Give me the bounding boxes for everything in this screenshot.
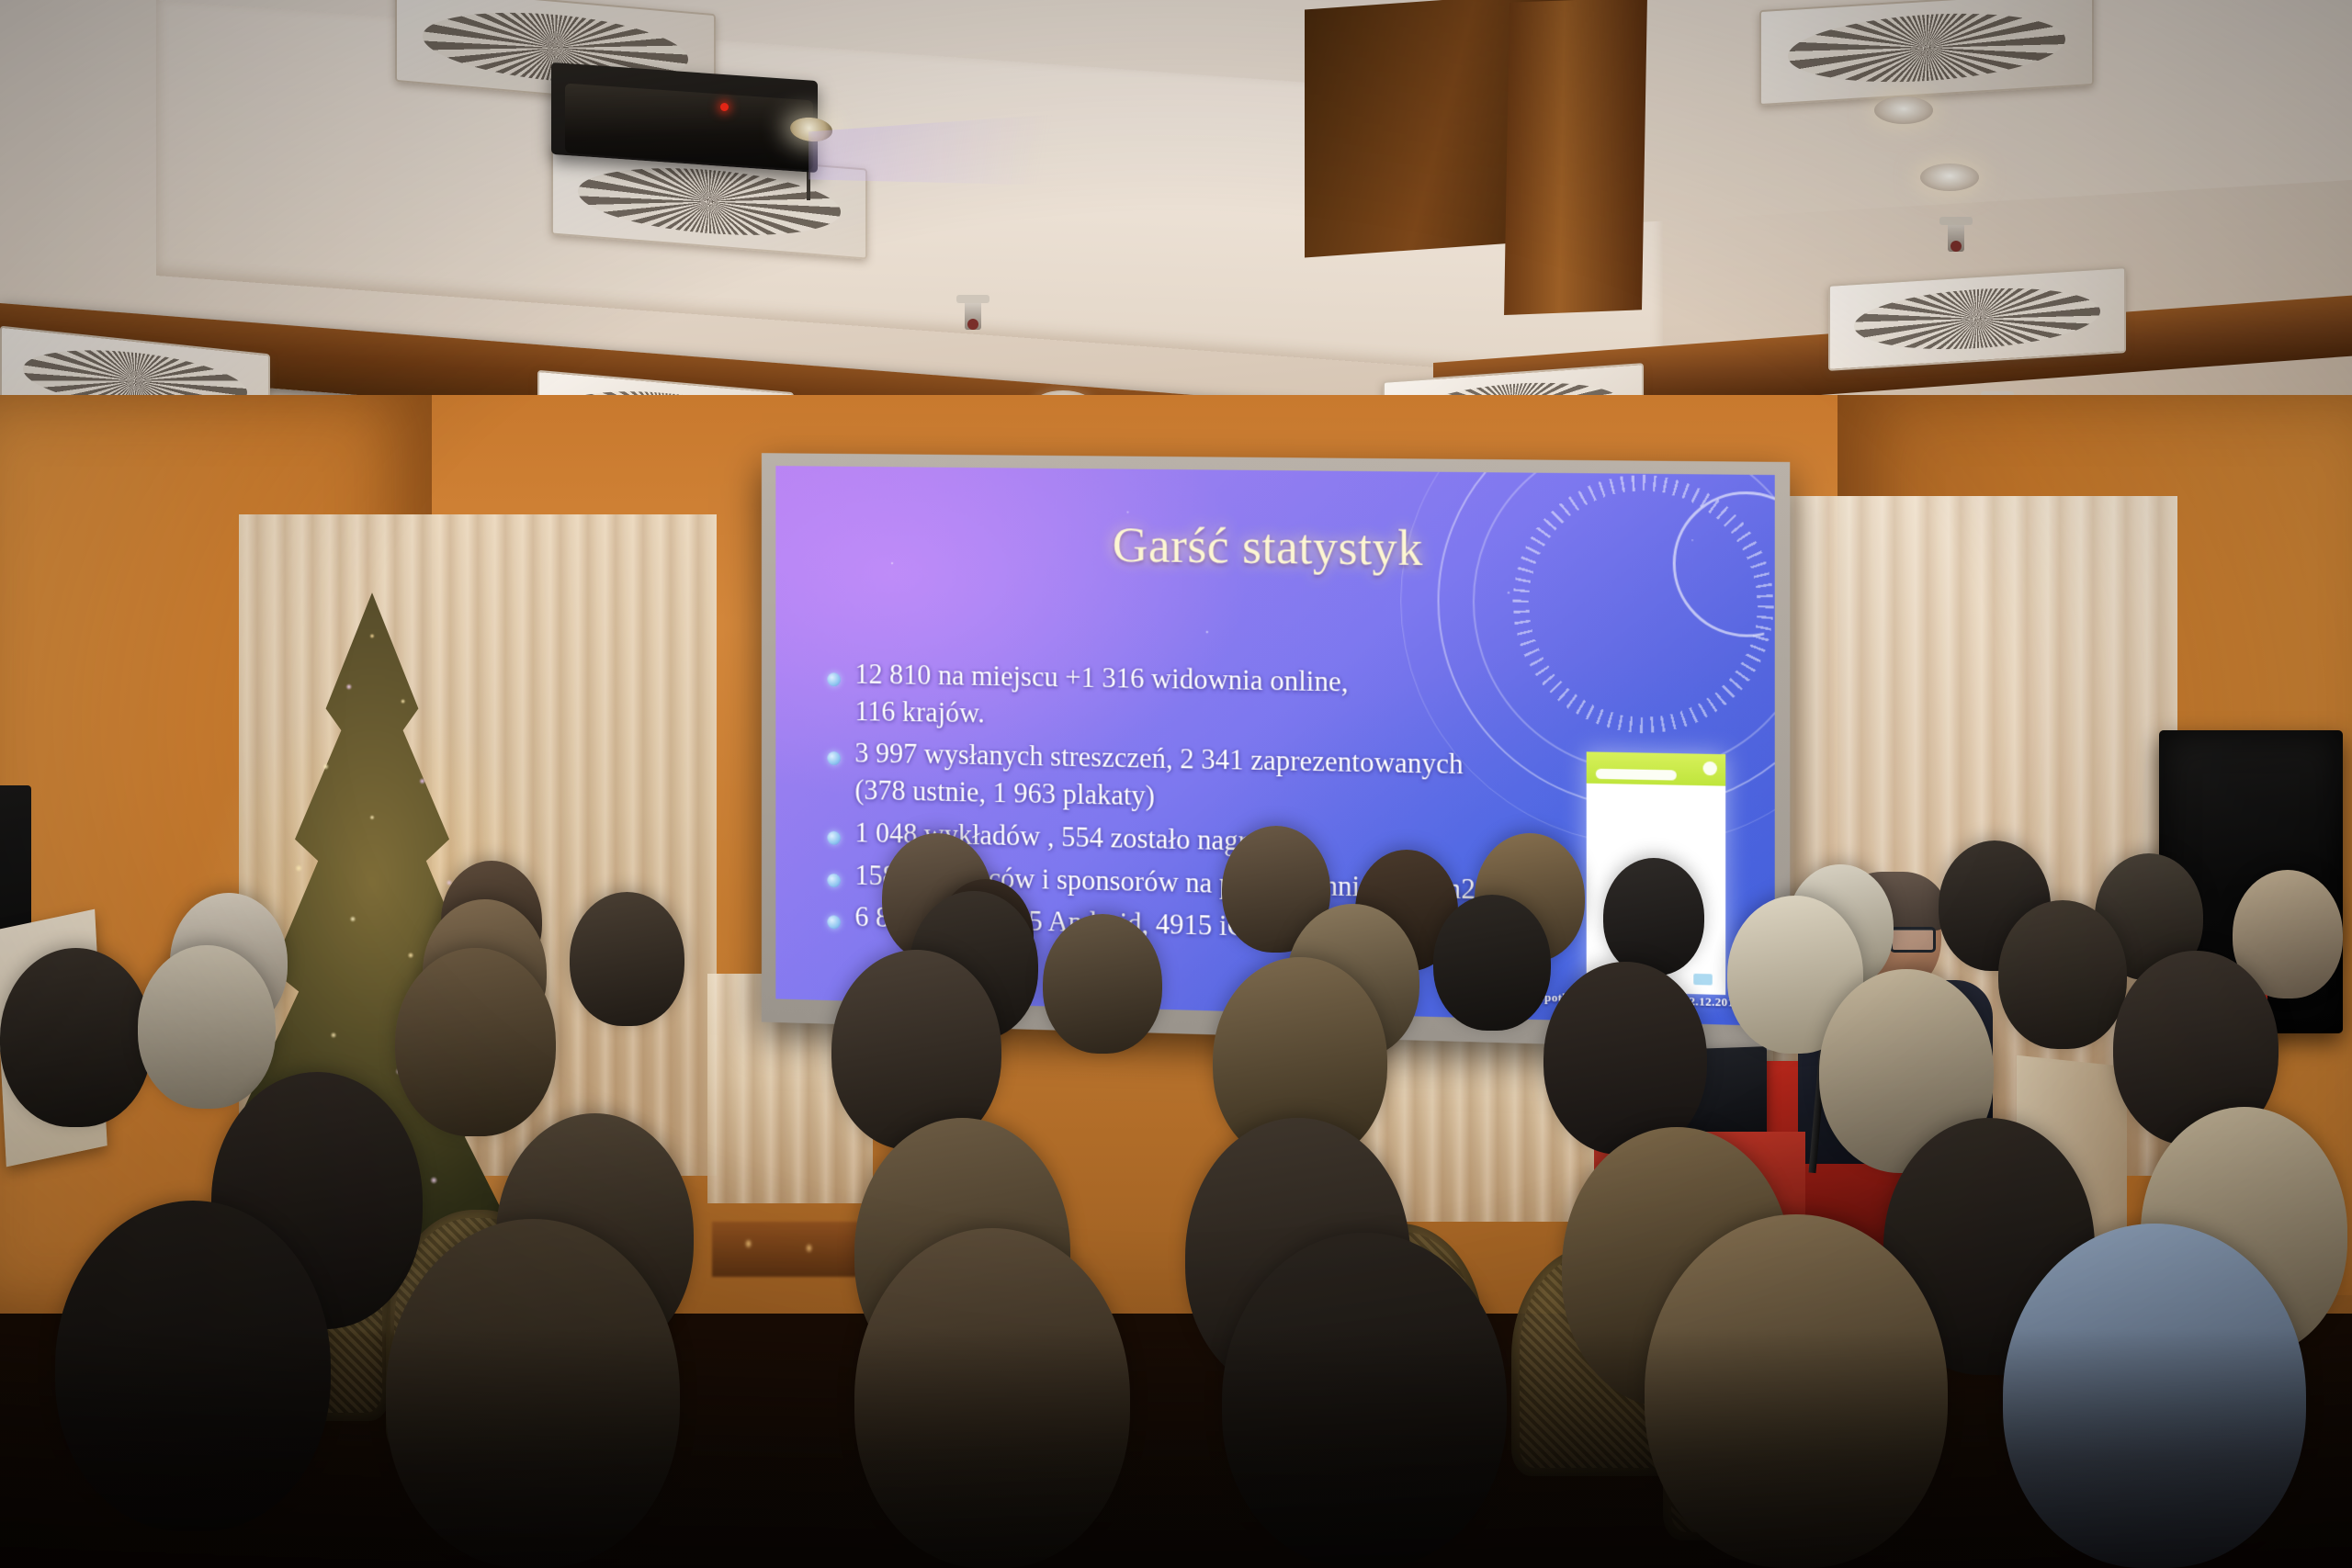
app-avatar-icon bbox=[1703, 761, 1717, 776]
slide-bullet-line-1: 6 860 App (1945 Android, 4915 iOS) bbox=[854, 901, 1272, 943]
app-footer-icon bbox=[1693, 974, 1713, 986]
presenter bbox=[1796, 877, 2007, 1153]
sprinkler-head-icon bbox=[1948, 220, 1964, 252]
slide-bullet-line-1: 1 048 wykładów , 554 zostało nagrane bbox=[854, 816, 1286, 857]
ceiling-downlight bbox=[1874, 96, 1933, 124]
bullet-dot-icon bbox=[827, 672, 841, 686]
foreground-shadow bbox=[0, 1329, 2352, 1568]
bullet-dot-icon bbox=[827, 831, 841, 845]
speaker-brand-logo-icon bbox=[2231, 982, 2267, 1002]
mobile-app-screenshot bbox=[1587, 751, 1725, 995]
candle-decorations bbox=[712, 1222, 1015, 1277]
slide-bullet-text: 12 810 na miejscu +1 316 widownia online… bbox=[854, 659, 1736, 743]
projected-slide: Garść statystyk 12 810 na miejscu +1 316… bbox=[775, 466, 1774, 1026]
slide-bullet-item: 12 810 na miejscu +1 316 widownia online… bbox=[827, 659, 1736, 743]
head-table-cloth bbox=[1594, 1132, 1805, 1242]
slide-bullet-line-1: 3 997 wysłanych streszczeń, 2 341 zaprez… bbox=[854, 737, 1463, 780]
conference-room-photo: Garść statystyk 12 810 na miejscu +1 316… bbox=[0, 0, 2352, 1568]
slide-bullet-line-1: 158 wystawców i sponsorów na powierzchni… bbox=[854, 859, 1475, 905]
pa-speaker-right bbox=[2159, 730, 2343, 1033]
projection-screen-frame: Garść statystyk 12 810 na miejscu +1 316… bbox=[762, 453, 1790, 1051]
tree-skirt bbox=[216, 1269, 528, 1333]
presenter-hair bbox=[1837, 872, 1949, 931]
ceiling-wood-beam-right bbox=[1504, 0, 1647, 315]
microphone-icon bbox=[1791, 915, 1845, 959]
hvac-vent-icon bbox=[1828, 266, 2126, 371]
tree-foliage bbox=[179, 592, 565, 1318]
presenter-glasses-icon bbox=[1838, 927, 1941, 947]
projector-status-led-icon bbox=[720, 103, 729, 111]
flipchart-board bbox=[0, 909, 107, 1168]
bullet-dot-icon bbox=[827, 916, 841, 930]
footer-bullet-icon bbox=[1520, 994, 1526, 1000]
slide-bullet-line-1: 12 810 na miejscu +1 316 widownia online… bbox=[854, 658, 1348, 697]
christmas-tree bbox=[179, 592, 565, 1318]
ceiling-downlight bbox=[1920, 164, 1979, 191]
app-search-pill bbox=[1596, 769, 1677, 781]
sprinkler-head-icon bbox=[965, 299, 981, 330]
bullet-dot-icon bbox=[827, 751, 841, 765]
app-header-bar bbox=[1587, 751, 1725, 785]
slide-bullet-line-2: 116 krajów. bbox=[854, 695, 1736, 742]
bullet-dot-icon bbox=[827, 874, 841, 887]
speaker-stand-pole bbox=[2242, 1027, 2254, 1174]
lectern bbox=[2017, 1055, 2127, 1251]
